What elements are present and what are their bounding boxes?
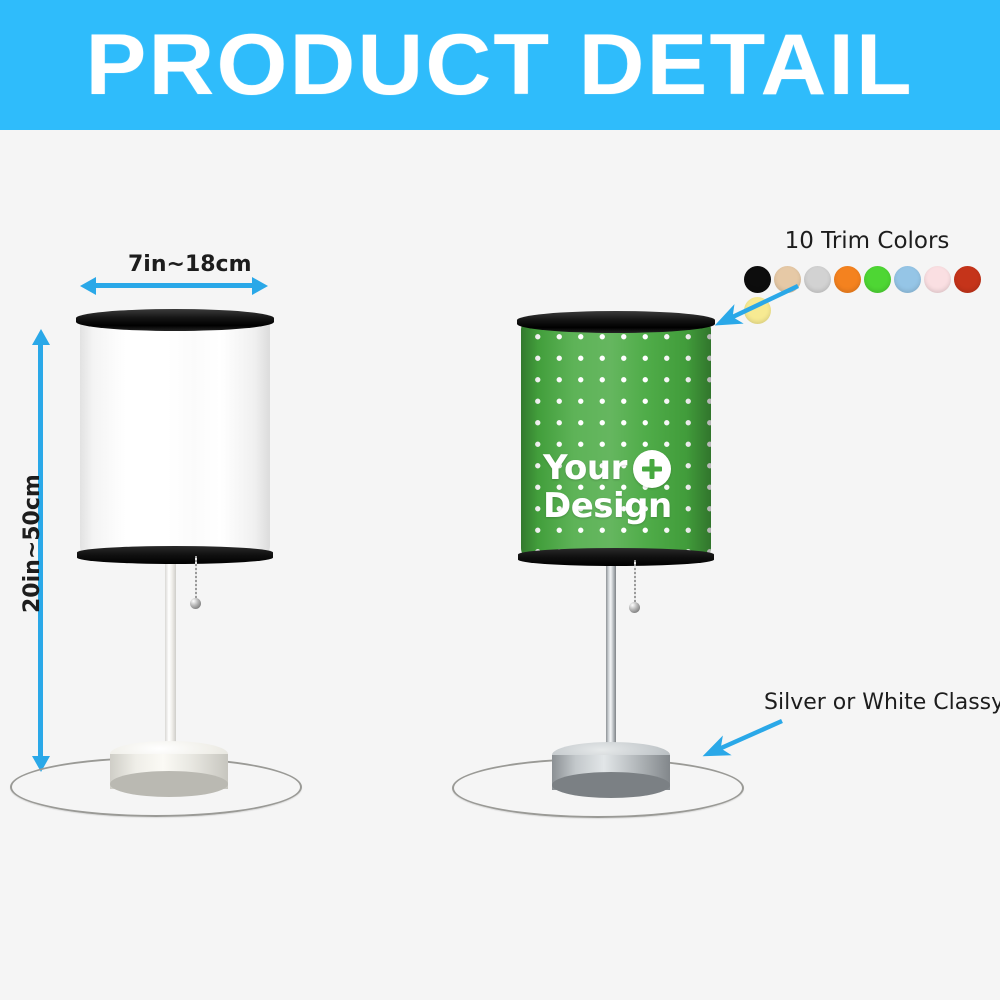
trim-color-swatch-dark-red[interactable] <box>954 266 981 293</box>
base-finish-callout-arrow <box>690 715 800 765</box>
lamp-pole-white <box>165 556 176 756</box>
width-measurement-label: 7in~18cm <box>128 252 252 277</box>
base-finish-callout-label: Silver or White Classy <box>764 690 1000 715</box>
pull-chain-ball-white[interactable] <box>190 598 201 609</box>
shade-surface <box>80 318 270 556</box>
height-measurement-label: 20in~50cm <box>20 474 45 613</box>
trim-color-swatch-light-blue[interactable] <box>894 266 921 293</box>
lamp-base-silver <box>552 742 670 798</box>
lamp-pole-silver <box>606 560 616 758</box>
trim-color-swatch-green[interactable] <box>864 266 891 293</box>
trim-color-callout-arrow <box>700 280 810 335</box>
shade-top-trim-ring <box>76 309 274 331</box>
artwork-line-1: Your <box>543 450 672 488</box>
lamp-shade-white <box>80 318 270 556</box>
header-banner: PRODUCT DETAIL <box>0 0 1000 130</box>
pull-chain-ball-silver[interactable] <box>629 602 640 613</box>
product-detail-page: PRODUCT DETAIL 7in~18cm 20in~50cm <box>0 0 1000 1000</box>
base-bottom-silver <box>552 772 670 798</box>
artwork-line-2: Design <box>543 490 672 523</box>
shade-bottom-trim-ring-green <box>518 548 714 566</box>
shade-artwork: Your Design <box>543 450 672 523</box>
base-bottom <box>110 771 228 797</box>
artwork-text-your: Your <box>543 452 627 485</box>
lamp-base-white <box>110 741 228 797</box>
pull-chain-silver[interactable] <box>634 560 636 606</box>
pull-chain-white[interactable] <box>195 556 197 602</box>
trim-colors-title: 10 Trim Colors <box>744 228 990 254</box>
shade-top-trim-ring-green <box>517 311 715 333</box>
trim-color-swatch-orange[interactable] <box>834 266 861 293</box>
page-title: PRODUCT DETAIL <box>86 22 914 108</box>
trim-color-swatch-pink[interactable] <box>924 266 951 293</box>
plus-icon <box>633 450 671 488</box>
artwork-text-design: Design <box>543 486 672 526</box>
width-measurement-arrow <box>94 283 254 288</box>
lamp-shade-green: Your Design <box>521 320 711 558</box>
shade-bottom-trim-ring <box>77 546 273 564</box>
